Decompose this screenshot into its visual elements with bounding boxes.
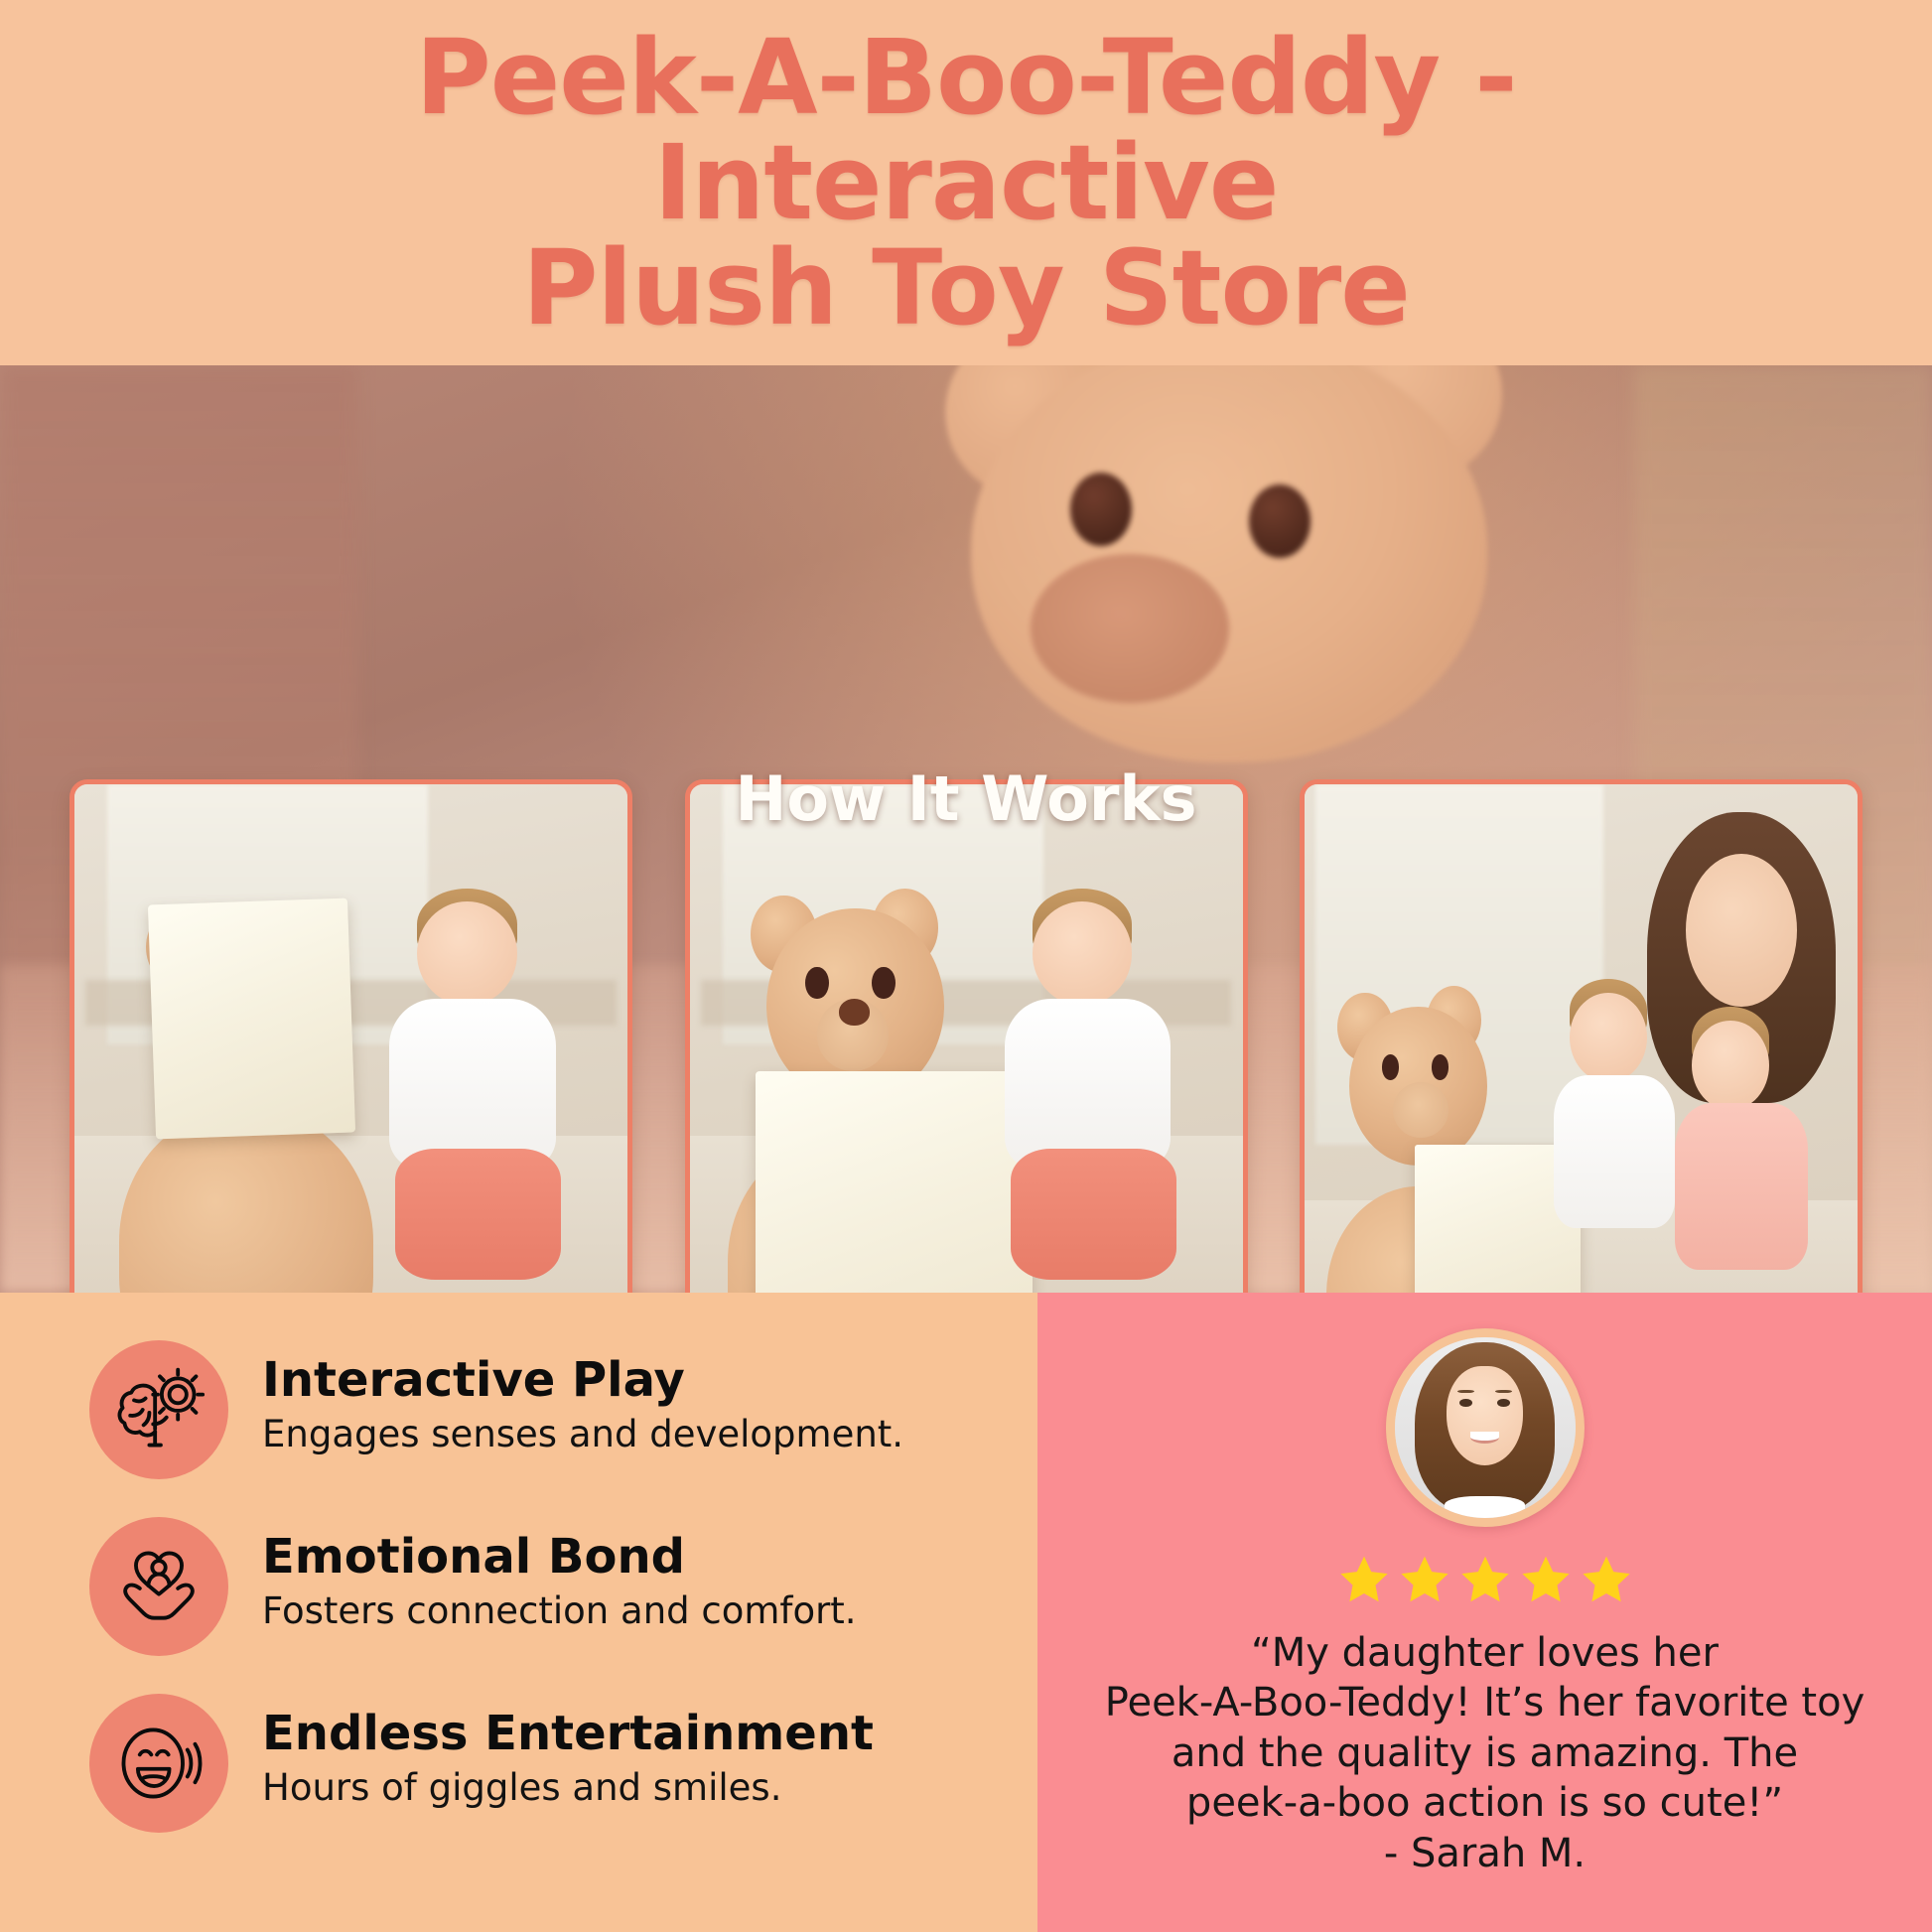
avatar-eye-right <box>1497 1399 1510 1407</box>
avatar-face <box>1447 1366 1522 1465</box>
testimonial-quote: “My daughter loves her Peek-A-Boo-Teddy!… <box>1073 1628 1897 1878</box>
quote-line-1: “My daughter loves her <box>1251 1630 1719 1676</box>
page-title: Peek-A-Boo-Teddy - Interactive Plush Toy… <box>122 25 1810 341</box>
background-bear-head <box>971 365 1487 762</box>
baby-pants <box>395 1149 561 1279</box>
feature-item[interactable]: Interactive Play Engages senses and deve… <box>89 1340 978 1479</box>
bottom-section: Interactive Play Engages senses and deve… <box>0 1293 1932 1932</box>
star-icon <box>1519 1553 1573 1606</box>
quote-line-3: and the quality is amazing. The <box>1172 1730 1798 1776</box>
bear-eye-right <box>1432 1054 1449 1079</box>
feature-icon-circle <box>89 1517 228 1656</box>
quote-line-4: peek-a-boo action is so cute!” <box>1186 1780 1783 1826</box>
feature-description: Engages senses and development. <box>262 1413 903 1456</box>
star-icon <box>1398 1553 1451 1606</box>
feature-title: Endless Entertainment <box>262 1708 874 1760</box>
how-it-works-section: How It Works 1. Squeeze the fo <box>0 365 1932 1293</box>
bear-nose <box>839 999 870 1025</box>
feature-icon-circle <box>89 1694 228 1833</box>
bear-eye-left <box>1382 1054 1399 1079</box>
baby-shirt <box>389 999 555 1169</box>
bear-muzzle <box>1393 1082 1449 1138</box>
baby-shirt-right <box>1675 1103 1808 1270</box>
baby-pants <box>1011 1149 1176 1279</box>
blanket <box>148 898 355 1140</box>
feature-item[interactable]: Endless Entertainment Hours of giggles a… <box>89 1694 978 1833</box>
mother-face <box>1686 854 1796 1007</box>
features-panel: Interactive Play Engages senses and deve… <box>0 1293 1037 1932</box>
blanket <box>756 1071 1033 1293</box>
feature-text: Endless Entertainment Hours of giggles a… <box>262 1694 874 1809</box>
baby-head <box>1033 901 1132 1006</box>
background-bear-eye-right <box>1249 484 1311 558</box>
bear-eye-right <box>872 967 895 1000</box>
background-bear-eye-left <box>1070 473 1132 546</box>
star-icon <box>1458 1553 1512 1606</box>
feature-description: Hours of giggles and smiles. <box>262 1766 874 1810</box>
step-3-photo <box>1305 784 1858 1293</box>
star-icon <box>1337 1553 1391 1606</box>
feature-text: Interactive Play Engages senses and deve… <box>262 1340 903 1455</box>
avatar <box>1386 1328 1585 1527</box>
feature-text: Emotional Bond Fosters connection and co… <box>262 1517 857 1632</box>
testimonial-panel: “My daughter loves her Peek-A-Boo-Teddy!… <box>1037 1293 1932 1932</box>
baby-shirt-left <box>1554 1075 1676 1228</box>
bear-eye-left <box>805 967 828 1000</box>
baby-head-left <box>1570 993 1647 1083</box>
page-header: Peek-A-Boo-Teddy - Interactive Plush Toy… <box>0 0 1932 365</box>
page-title-line-1: Peek-A-Boo-Teddy - Interactive <box>415 17 1516 243</box>
brain-gear-icon <box>111 1362 207 1457</box>
feature-title: Interactive Play <box>262 1354 903 1407</box>
baby-shirt <box>1005 999 1171 1169</box>
how-it-works-step-card[interactable]: 1. Squeeze the foot to start the peek-a-… <box>69 779 632 1293</box>
background-bear-muzzle <box>1031 554 1229 703</box>
testimonial-author: - Sarah M. <box>1384 1831 1586 1876</box>
feature-description: Fosters connection and comfort. <box>262 1589 857 1633</box>
baby-head-right <box>1692 1021 1769 1111</box>
step-1-photo <box>74 784 627 1293</box>
how-it-works-card-list: 1. Squeeze the foot to start the peek-a-… <box>69 779 1863 1293</box>
feature-item[interactable]: Emotional Bond Fosters connection and co… <box>89 1517 978 1656</box>
quote-line-2: Peek-A-Boo-Teddy! It’s her favorite toy <box>1105 1680 1864 1725</box>
avatar-eye-left <box>1459 1399 1472 1407</box>
hands-heart-icon <box>111 1539 207 1634</box>
avatar-shirt <box>1445 1496 1524 1518</box>
baby-head <box>417 901 516 1006</box>
how-it-works-step-card[interactable]: 2. Teddy hides and reveals with playful … <box>685 779 1248 1293</box>
feature-icon-circle <box>89 1340 228 1479</box>
how-it-works-title: How It Works <box>0 762 1932 835</box>
feature-title: Emotional Bond <box>262 1531 857 1584</box>
page-title-line-2: Plush Toy Store <box>522 227 1410 348</box>
laughing-face-icon <box>111 1716 207 1811</box>
star-rating <box>1337 1553 1633 1606</box>
background-teddy-bear-image <box>911 365 1547 812</box>
star-icon <box>1580 1553 1633 1606</box>
step-2-photo <box>690 784 1243 1293</box>
how-it-works-step-card[interactable]: 3. Creates endless interactive play mome… <box>1300 779 1863 1293</box>
